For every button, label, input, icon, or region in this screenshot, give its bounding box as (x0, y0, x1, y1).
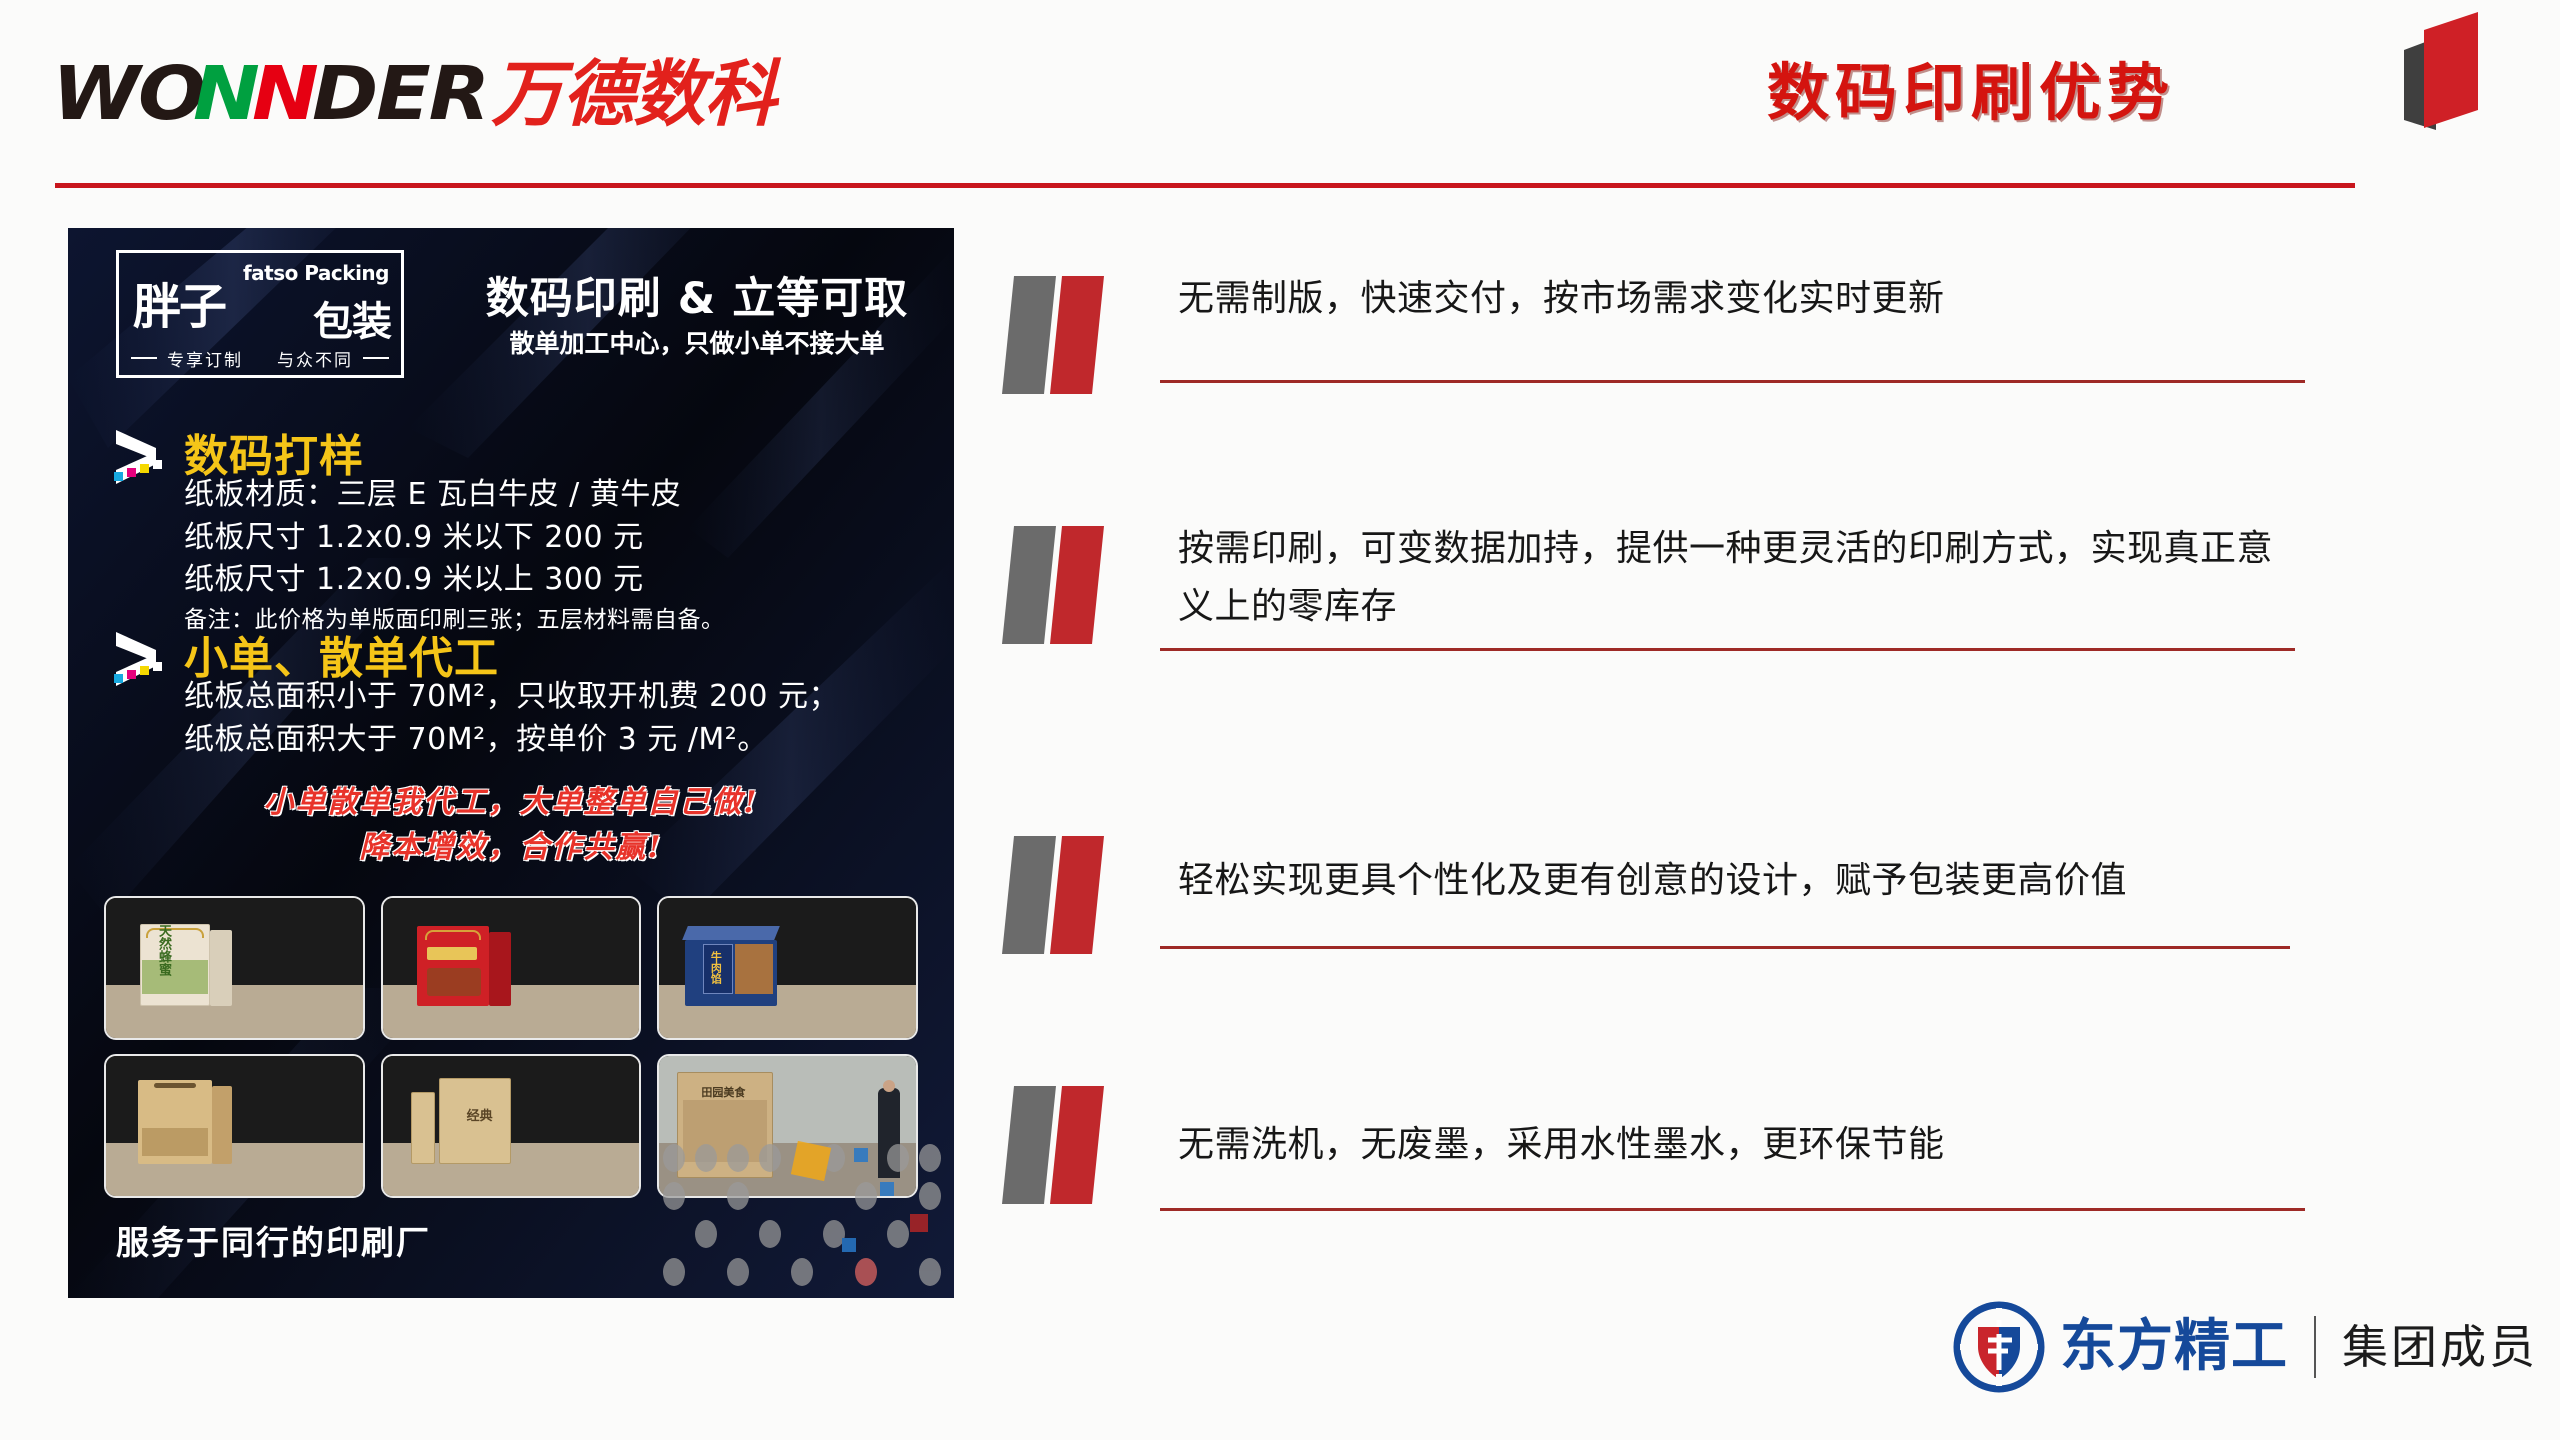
poster-brand-badge: fatso Packing 胖子 包装 专享订制 与众不同 (116, 250, 404, 378)
footer-company-name: 东方精工 (2060, 1319, 2288, 1375)
product-photo-caption: 田园美食 (701, 1084, 745, 1100)
promo-poster-image: fatso Packing 胖子 包装 专享订制 与众不同 数码印刷 & 立等可… (68, 228, 954, 1298)
poster-brand-latin: fatso Packing (243, 261, 389, 285)
advantage-text: 轻松实现更具个性化及更有创意的设计，赋予包装更高价值 (1178, 852, 2303, 910)
poster-brand-cn2: 包装 (313, 289, 391, 347)
decorative-dot-grid (654, 1138, 954, 1298)
product-photo: 天然蜂蜜 (104, 896, 365, 1040)
poster-subheadline: 散单加工中心，只做小单不接大单 (472, 324, 922, 360)
brand-latin-part2: DER (312, 57, 488, 131)
double-stripe-marker-icon (1000, 1080, 1150, 1210)
product-photo: 经典 (381, 1054, 642, 1198)
group-member-logo: 东方精工 集团成员 (1952, 1300, 2538, 1394)
poster-footer-text: 服务于同行的印刷厂 (116, 1216, 431, 1264)
footer-member-label: 集团成员 (2342, 1324, 2538, 1370)
poster-section-1-line-3: 纸板尺寸 1.2x0.9 米以上 300 元 (184, 559, 725, 602)
advantage-text: 无需制版，快速交付，按市场需求变化实时更新 (1178, 270, 2303, 328)
wonder-brand-logo: WO N N DER 万德数科 (52, 55, 775, 133)
product-photo: 金味鸡肉 (381, 896, 642, 1040)
product-photo-caption: 天然蜂蜜 (154, 924, 173, 976)
advantage-text: 无需洗机，无废墨，采用水性墨水，更环保节能 (1178, 1116, 2303, 1174)
product-photo-caption: 牛肉馅 (707, 951, 723, 984)
double-stripe-marker-icon (1000, 830, 1150, 960)
brand-chinese-name: 万德数科 (491, 58, 775, 130)
poster-slogan-line-2: 降本增效，合作共赢! (68, 825, 954, 870)
footer-divider (2314, 1316, 2316, 1378)
poster-section-1-line-1: 纸板材质：三层 E 瓦白牛皮 / 黄牛皮 (184, 474, 725, 517)
chevron-cmyk-icon (110, 426, 176, 488)
header-divider (55, 183, 2355, 188)
poster-section-1-line-2: 纸板尺寸 1.2x0.9 米以下 200 元 (184, 517, 725, 560)
poster-brand-cn1: 胖子 (133, 267, 225, 337)
advantage-underline (1160, 380, 2305, 383)
poster-slogan: 小单散单我代工，大单整单自己做! 降本增效，合作共赢! (68, 780, 954, 870)
page-header: WO N N DER 万德数科 数码印刷优势 (0, 0, 2560, 200)
advantage-underline (1160, 648, 2295, 651)
poster-brand-tag-left: 专享订制 (167, 346, 243, 371)
product-photo (104, 1054, 365, 1198)
brand-latin-part1: WO (52, 57, 204, 131)
dongfang-jinggong-logo-icon (1952, 1300, 2046, 1394)
chevron-cmyk-icon (110, 628, 176, 690)
poster-brand-tag-right: 与众不同 (277, 346, 353, 371)
advantage-text: 按需印刷，可变数据加持，提供一种更灵活的印刷方式，实现真正意义上的零库存 (1178, 520, 2303, 637)
poster-headline: 数码印刷 & 立等可取 (472, 264, 922, 326)
poster-slogan-line-1: 小单散单我代工，大单整单自己做! (68, 780, 954, 825)
product-photo-caption: 经典 (467, 1105, 493, 1124)
brand-latin-n-red: N (252, 57, 317, 131)
advantage-underline (1160, 1208, 2305, 1211)
double-stripe-marker-icon (1000, 520, 1150, 650)
brand-latin-n-green: N (193, 57, 258, 131)
advantage-underline (1160, 946, 2290, 949)
poster-section-2-line-1: 纸板总面积小于 70M²，只收取开机费 200 元； (184, 676, 839, 719)
page-title: 数码印刷优势 (1767, 42, 2175, 132)
product-photo: 牛肉馅 (657, 896, 918, 1040)
double-stripe-marker-icon (1000, 270, 1150, 400)
poster-section-2-line-2: 纸板总面积大于 70M²，按单价 3 元 /M²。 (184, 719, 839, 762)
corner-book-mark-icon (2378, 8, 2498, 136)
